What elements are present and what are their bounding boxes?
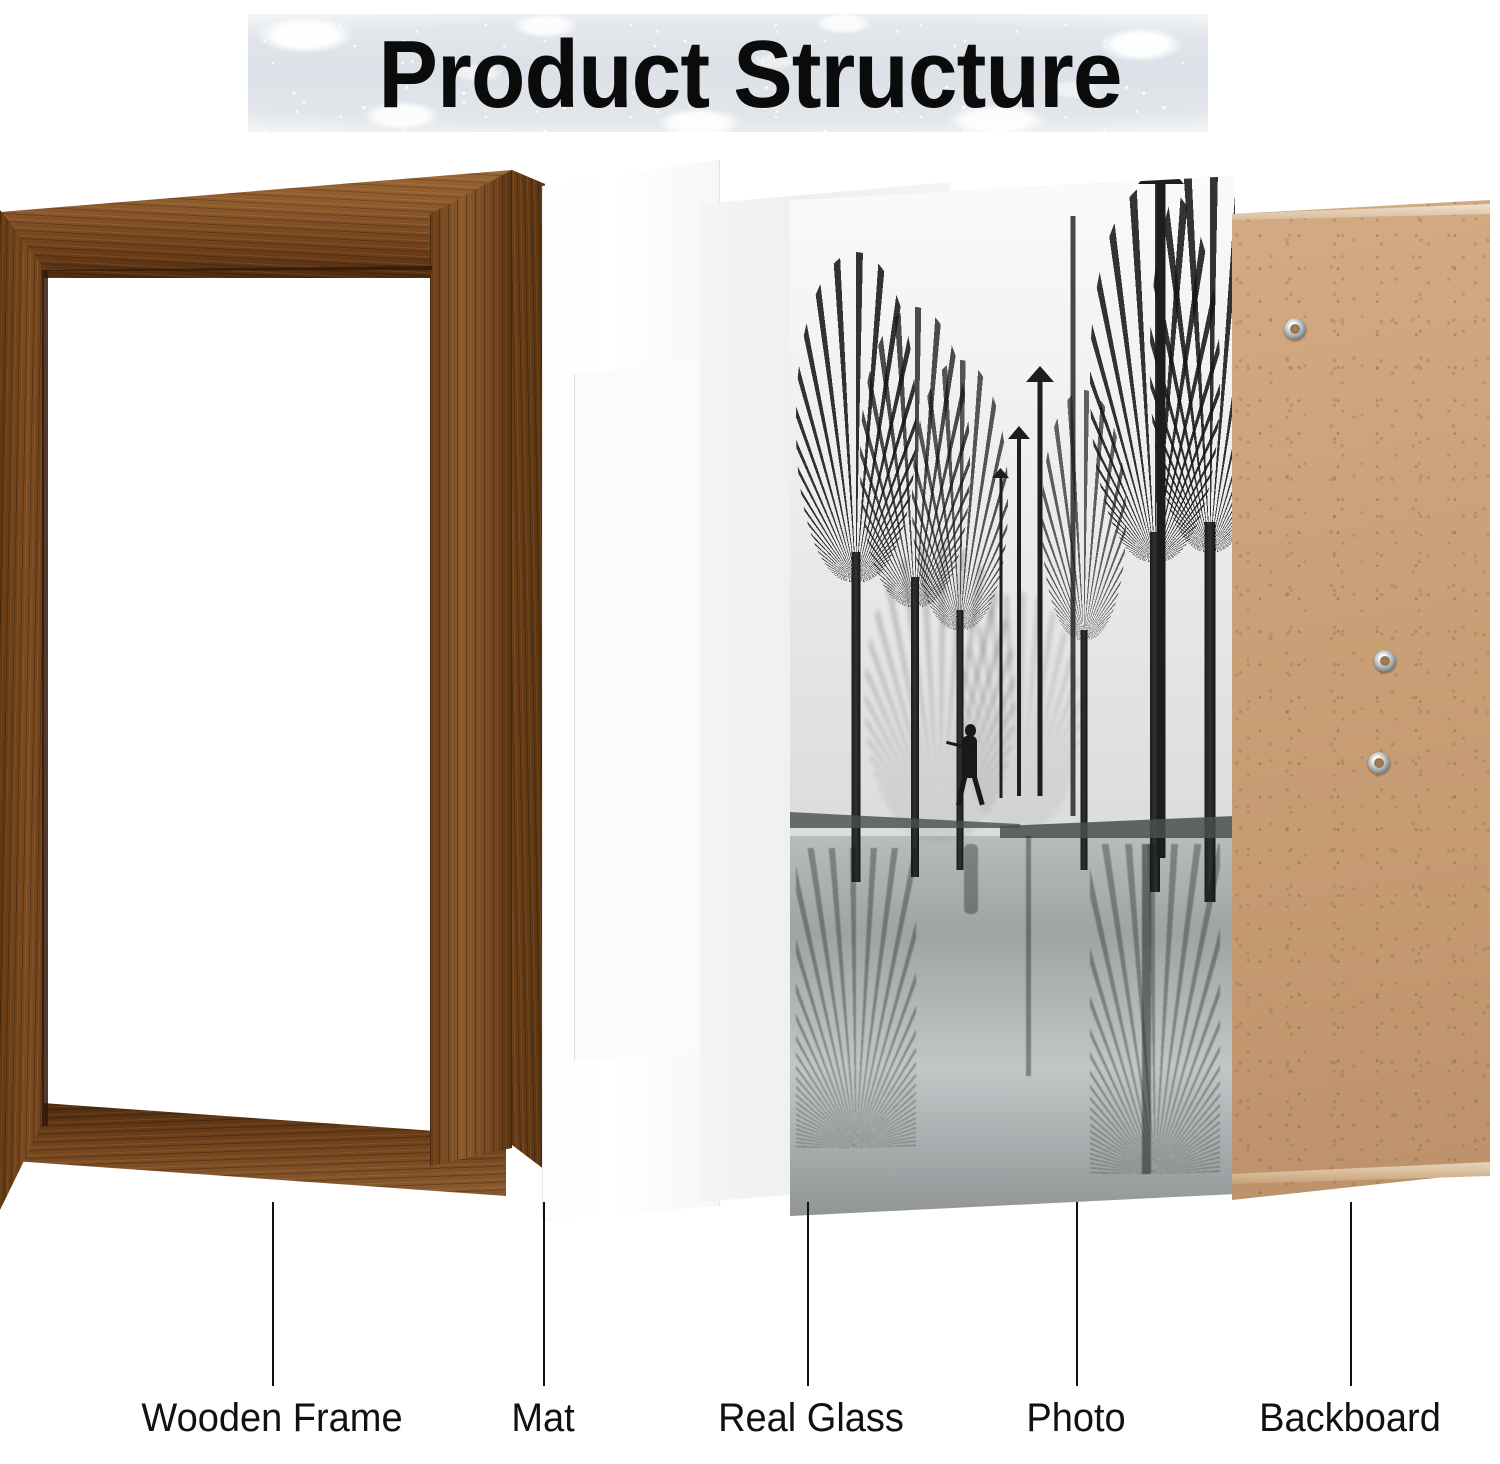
- page-title: Product Structure: [53, 0, 1448, 150]
- leader-line-mat: [543, 1202, 545, 1386]
- photo-lamp-post: [992, 468, 1009, 798]
- photo-lamp-post: [1026, 366, 1054, 796]
- photo-reflection-figure: [964, 844, 978, 914]
- exploded-view-stage: [0, 150, 1500, 1210]
- backboard-grommet: [1284, 318, 1306, 340]
- photo-lamp-post: [1068, 216, 1078, 816]
- leader-line-real-glass: [807, 1202, 809, 1386]
- photo-reflection-lamp: [1026, 836, 1031, 1076]
- photo-reflection-tree: [796, 848, 916, 1148]
- label-wooden-frame: Wooden Frame: [82, 1396, 462, 1441]
- photo-tree: [1042, 400, 1126, 870]
- frame-stile-right-face: [430, 170, 520, 1210]
- layer-backboard: [1232, 200, 1494, 1210]
- backboard-grommet: [1374, 650, 1396, 672]
- photo-reflection-lamp: [1142, 844, 1151, 1174]
- leader-line-photo: [1076, 1202, 1078, 1386]
- leader-line-wooden-frame: [272, 1202, 274, 1386]
- label-photo: Photo: [957, 1396, 1195, 1441]
- layer-photo: [790, 176, 1235, 1222]
- photo-reflection-tree: [1090, 844, 1220, 1174]
- frame-rabbet-left: [42, 270, 48, 1126]
- leader-line-backboard: [1350, 1202, 1352, 1386]
- title-area: Product Structure: [0, 0, 1500, 150]
- label-real-glass: Real Glass: [669, 1396, 954, 1441]
- layer-wooden-frame: [0, 170, 545, 1230]
- mat-board: [542, 160, 720, 1220]
- layer-labels: Wooden Frame Mat Real Glass Photo Backbo…: [0, 1396, 1500, 1456]
- layer-mat: [520, 160, 720, 1238]
- photo-lamp-post-main: [1138, 176, 1184, 858]
- photo-lamp-post: [1008, 426, 1030, 796]
- backboard-grommet: [1368, 752, 1390, 774]
- frame-opening: [44, 268, 434, 1128]
- backboard-panel: [1232, 200, 1490, 1200]
- label-mat: Mat: [448, 1396, 638, 1441]
- label-backboard: Backboard: [1198, 1396, 1500, 1441]
